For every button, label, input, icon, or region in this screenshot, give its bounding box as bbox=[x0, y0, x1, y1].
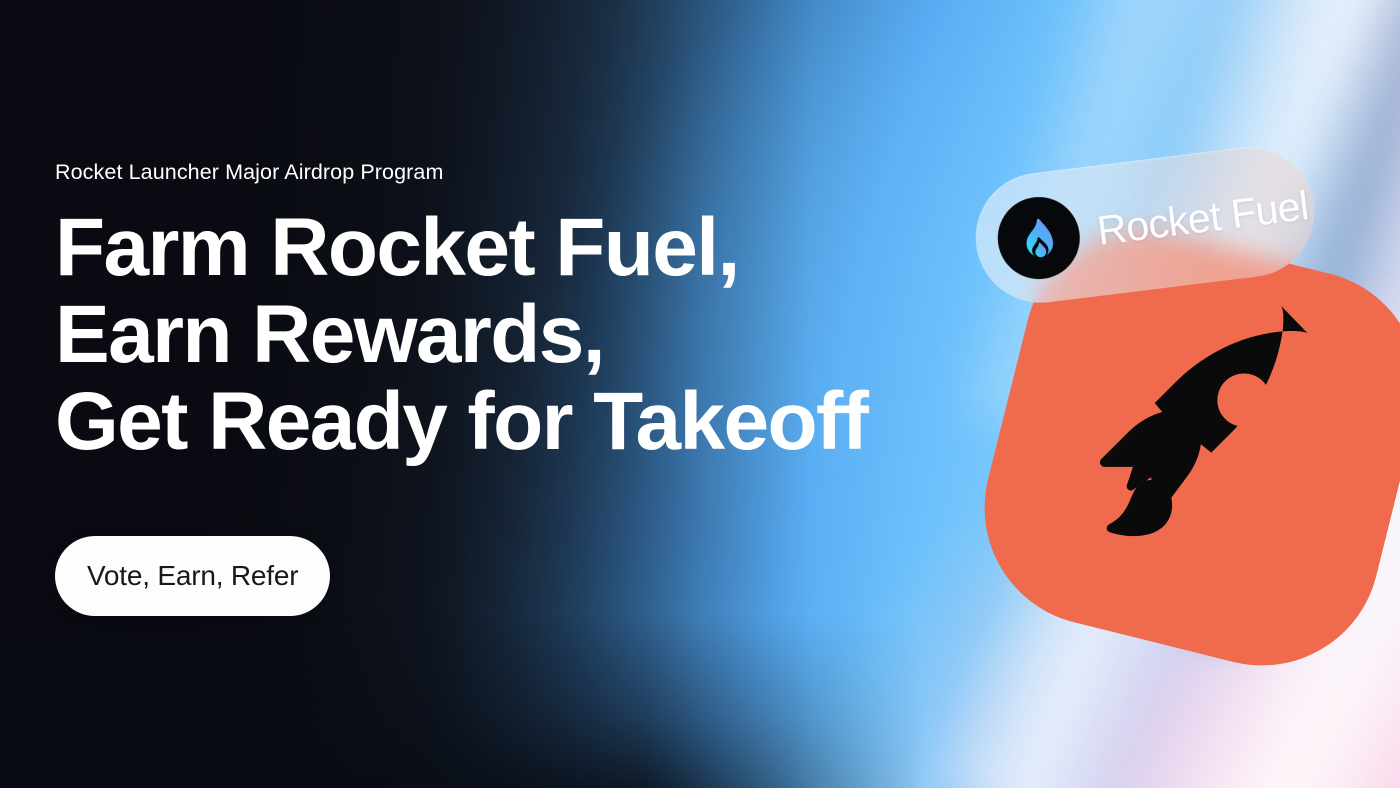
headline-line-2: Earn Rewards, bbox=[55, 291, 975, 378]
flame-icon bbox=[1015, 215, 1062, 262]
headline-line-3: Get Ready for Takeoff bbox=[55, 378, 975, 465]
headline-line-1: Farm Rocket Fuel, bbox=[55, 204, 975, 291]
vote-earn-refer-button[interactable]: Vote, Earn, Refer bbox=[55, 536, 330, 616]
fuel-badge bbox=[993, 192, 1084, 283]
chip-label: Rocket Fuel bbox=[1094, 182, 1310, 255]
airdrop-hero-banner: Rocket Fuel Rocket Launcher Major Airdro… bbox=[0, 0, 1400, 788]
eyebrow-text: Rocket Launcher Major Airdrop Program bbox=[55, 160, 975, 186]
rocket-icon bbox=[1057, 303, 1347, 593]
page-title: Farm Rocket Fuel, Earn Rewards, Get Read… bbox=[55, 204, 975, 465]
hero-copy: Rocket Launcher Major Airdrop Program Fa… bbox=[55, 160, 975, 465]
